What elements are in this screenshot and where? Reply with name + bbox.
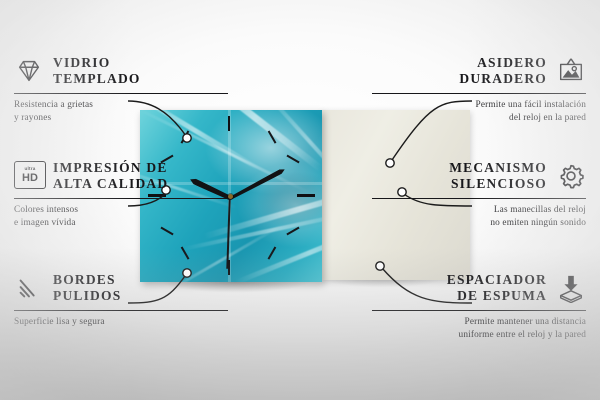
callout-asidero-duradero[interactable]: ASIDERO DURADERO Permite una fácil insta… <box>372 55 586 124</box>
hands-center-pin <box>228 194 233 199</box>
callout-header: ultra HD IMPRESIÓN DE ALTA CALIDAD <box>14 160 228 193</box>
callout-divider <box>372 310 586 311</box>
ultra-hd-icon: ultra HD <box>14 161 44 191</box>
connector-dot-espaciador <box>376 262 384 270</box>
callout-header: VIDRIO TEMPLADO <box>14 55 228 88</box>
callout-header: MECANISMO SILENCIOSO <box>372 160 586 193</box>
callout-title: IMPRESIÓN DE ALTA CALIDAD <box>53 160 168 193</box>
polished-edges-icon <box>14 273 44 303</box>
callout-divider <box>14 310 228 311</box>
callout-title: VIDRIO TEMPLADO <box>53 55 141 88</box>
callout-divider <box>14 93 228 94</box>
callout-divider <box>372 93 586 94</box>
callout-description: Permite mantener una distancia uniforme … <box>372 316 586 341</box>
ultra-hd-large-text: HD <box>22 173 38 184</box>
callout-description: Superficie lisa y segura <box>14 316 228 328</box>
callout-title: ESPACIADOR DE ESPUMA <box>447 272 547 305</box>
callout-description: Las manecillas del reloj no emiten ningú… <box>372 204 586 229</box>
foam-spacer-icon <box>556 273 586 303</box>
callout-header: BORDES PULIDOS <box>14 272 228 305</box>
callout-espaciador-de-espuma[interactable]: ESPACIADOR DE ESPUMA Permite mantener un… <box>372 272 586 341</box>
callout-divider <box>372 198 586 199</box>
infographic-canvas: VIDRIO TEMPLADO Resistencia a grietas y … <box>0 0 600 400</box>
connector-dot-vidrio-templado <box>183 134 191 142</box>
callout-description: Permite una fácil instalación del reloj … <box>372 99 586 124</box>
callout-title: BORDES PULIDOS <box>53 272 121 305</box>
callout-divider <box>14 198 228 199</box>
callout-vidrio-templado[interactable]: VIDRIO TEMPLADO Resistencia a grietas y … <box>14 55 228 124</box>
callout-description: Colores intensos e imagen vívida <box>14 204 228 229</box>
wall-hanging-frame-icon <box>556 56 586 86</box>
gear-icon <box>556 161 586 191</box>
callout-header: ESPACIADOR DE ESPUMA <box>372 272 586 305</box>
callout-bordes-pulidos[interactable]: BORDES PULIDOS Superficie lisa y segura <box>14 272 228 329</box>
callout-impresion-alta-calidad[interactable]: ultra HD IMPRESIÓN DE ALTA CALIDAD Color… <box>14 160 228 229</box>
callout-mecanismo-silencioso[interactable]: MECANISMO SILENCIOSO Las manecillas del … <box>372 160 586 229</box>
callout-header: ASIDERO DURADERO <box>372 55 586 88</box>
callout-title: ASIDERO DURADERO <box>459 55 547 88</box>
callout-description: Resistencia a grietas y rayones <box>14 99 228 124</box>
callout-title: MECANISMO SILENCIOSO <box>449 160 547 193</box>
diamond-icon <box>14 56 44 86</box>
